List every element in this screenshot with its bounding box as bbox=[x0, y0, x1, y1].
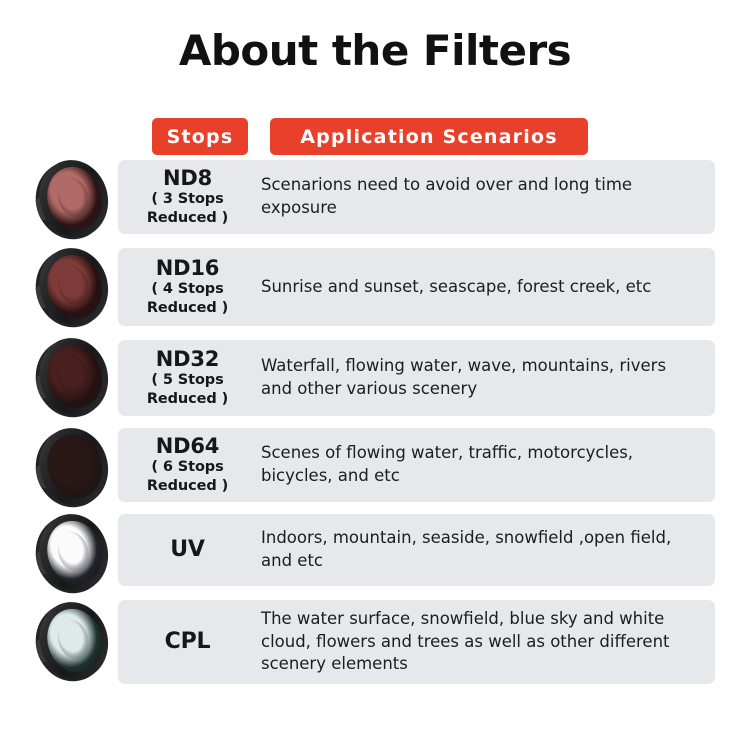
row-stops-cell-nd8: ND8( 3 StopsReduced ) bbox=[118, 167, 261, 228]
row-stops-cell-cpl: CPL bbox=[118, 630, 261, 655]
header-badge-scenarios-label: Application Scenarios bbox=[300, 126, 557, 148]
filter-name: UV bbox=[118, 538, 257, 563]
filter-stops-line2: Reduced ) bbox=[118, 478, 257, 496]
header-badge-stops: Stops bbox=[152, 118, 248, 155]
table-row: CPLThe water surface, snowfield, blue sk… bbox=[118, 600, 715, 684]
row-scenario-cell-uv: Indoors, mountain, seaside, snowfield ,o… bbox=[261, 527, 715, 573]
nd16-filter-icon bbox=[31, 246, 115, 330]
filter-stops-line1: ( 3 Stops bbox=[118, 191, 257, 209]
table-row: ND16( 4 StopsReduced )Sunrise and sunset… bbox=[118, 248, 715, 326]
table-row: ND32( 5 StopsReduced )Waterfall, flowing… bbox=[118, 340, 715, 416]
filter-name: ND16 bbox=[118, 257, 257, 281]
cpl-filter-icon bbox=[31, 600, 115, 684]
nd32-filter-icon bbox=[31, 336, 115, 420]
filters-infographic: About the Filters Stops Application Scen… bbox=[0, 0, 750, 750]
row-scenario-cell-nd32: Waterfall, flowing water, wave, mountain… bbox=[261, 355, 715, 401]
row-stops-cell-uv: UV bbox=[118, 538, 261, 563]
table-row: ND64( 6 StopsReduced )Scenes of flowing … bbox=[118, 428, 715, 502]
nd64-filter-icon bbox=[31, 426, 115, 510]
filter-stops-line2: Reduced ) bbox=[118, 300, 257, 318]
header-badge-scenarios: Application Scenarios bbox=[270, 118, 588, 155]
filter-name: ND32 bbox=[118, 348, 257, 372]
filter-name: ND64 bbox=[118, 435, 257, 459]
filter-stops-line1: ( 4 Stops bbox=[118, 281, 257, 299]
row-scenario-cell-nd16: Sunrise and sunset, seascape, forest cre… bbox=[261, 276, 715, 299]
filter-stops-line1: ( 6 Stops bbox=[118, 459, 257, 477]
page-title: About the Filters bbox=[0, 26, 750, 75]
row-stops-cell-nd64: ND64( 6 StopsReduced ) bbox=[118, 435, 261, 496]
row-scenario-cell-nd8: Scenarions need to avoid over and long t… bbox=[261, 174, 715, 220]
row-stops-cell-nd32: ND32( 5 StopsReduced ) bbox=[118, 348, 261, 409]
header-badge-stops-label: Stops bbox=[167, 126, 234, 148]
filter-name: ND8 bbox=[118, 167, 257, 191]
row-scenario-cell-nd64: Scenes of flowing water, traffic, motorc… bbox=[261, 442, 715, 488]
row-scenario-cell-cpl: The water surface, snowfield, blue sky a… bbox=[261, 608, 715, 676]
nd8-filter-icon bbox=[31, 158, 115, 242]
filter-stops-line2: Reduced ) bbox=[118, 210, 257, 228]
table-row: ND8( 3 StopsReduced )Scenarions need to … bbox=[118, 160, 715, 234]
filter-name: CPL bbox=[118, 630, 257, 655]
uv-filter-icon bbox=[31, 512, 115, 596]
row-stops-cell-nd16: ND16( 4 StopsReduced ) bbox=[118, 257, 261, 318]
filter-stops-line1: ( 5 Stops bbox=[118, 372, 257, 390]
table-row: UVIndoors, mountain, seaside, snowfield … bbox=[118, 514, 715, 586]
filter-stops-line2: Reduced ) bbox=[118, 391, 257, 409]
